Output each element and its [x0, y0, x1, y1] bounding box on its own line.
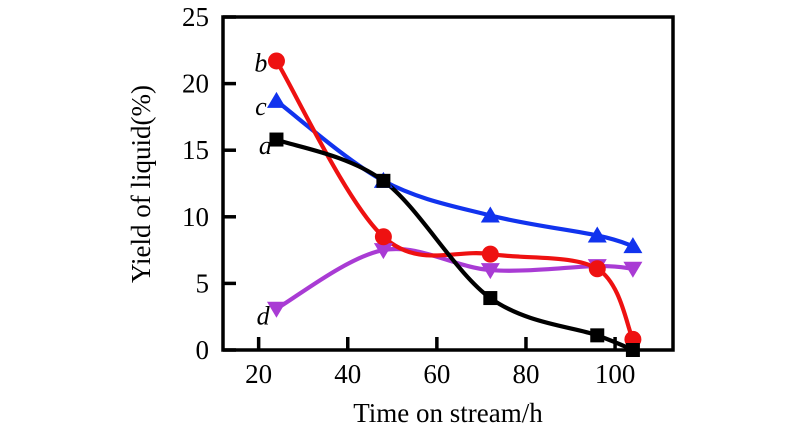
series-line-b: [276, 61, 632, 339]
data-point-c: [267, 92, 286, 108]
data-point-a: [483, 291, 497, 305]
x-axis-title: Time on stream/h: [353, 398, 543, 428]
data-point-b: [268, 52, 285, 69]
series-line-d: [276, 249, 632, 309]
series-lines: [276, 61, 632, 350]
y-axis-title: Yield of liquid(%): [126, 85, 156, 283]
x-tick-label: 60: [423, 359, 450, 389]
y-tick-label: 25: [182, 2, 209, 32]
x-tick-label: 20: [245, 359, 272, 389]
x-tick-label: 80: [512, 359, 539, 389]
series-line-a: [276, 140, 632, 350]
data-point-a: [626, 343, 640, 357]
series-line-c: [276, 101, 632, 246]
data-point-a: [376, 174, 390, 188]
y-tick-label: 5: [196, 268, 210, 298]
data-point-b: [482, 246, 499, 263]
data-point-b: [589, 260, 606, 277]
x-axis-tick-labels: 20406080100: [245, 359, 635, 389]
chart-svg: 0510152025 20406080100 bcad Time on stre…: [0, 0, 800, 442]
series-label-a: a: [259, 131, 272, 160]
series-inline-labels: bcad: [254, 48, 271, 330]
data-point-a: [590, 328, 604, 342]
series-label-c: c: [255, 92, 267, 121]
data-point-d: [267, 302, 286, 318]
y-tick-label: 0: [196, 335, 210, 365]
y-axis-tick-labels: 0510152025: [182, 2, 209, 365]
series-label-b: b: [254, 48, 267, 77]
chart-figure: 0510152025 20406080100 bcad Time on stre…: [0, 0, 800, 442]
x-axis-ticks: [259, 337, 615, 350]
data-point-b: [375, 228, 392, 245]
x-tick-label: 40: [334, 359, 361, 389]
y-tick-label: 15: [182, 135, 209, 165]
y-tick-label: 20: [182, 69, 209, 99]
x-tick-label: 100: [595, 359, 636, 389]
series-label-d: d: [257, 301, 271, 330]
y-axis-ticks: [223, 17, 236, 350]
y-tick-label: 10: [182, 202, 209, 232]
